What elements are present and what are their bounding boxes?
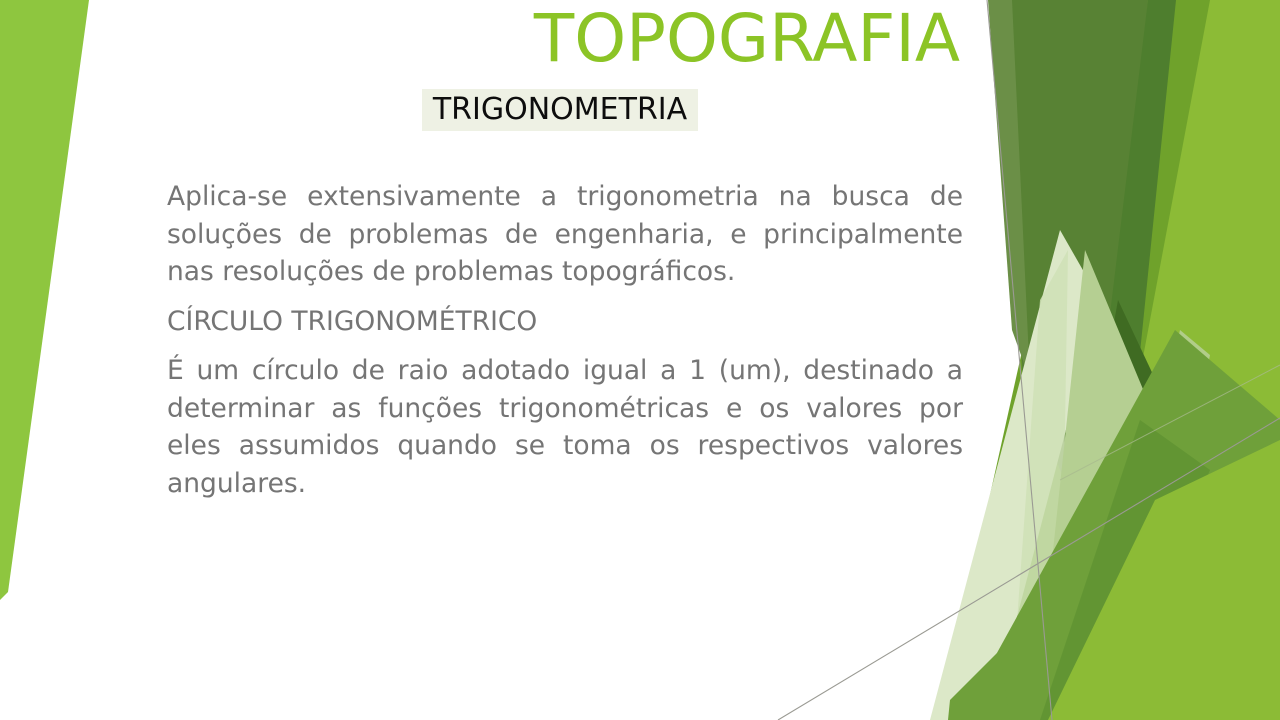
presentation-slide: TOPOGRAFIA TRIGONOMETRIA Aplica-se exten… bbox=[0, 0, 1280, 720]
body-paragraph-3: É um círculo de raio adotado igual a 1 (… bbox=[167, 352, 963, 502]
subtitle-row: TRIGONOMETRIA bbox=[160, 89, 960, 131]
subtitle-highlight-box: TRIGONOMETRIA bbox=[422, 89, 698, 131]
body-text-block: Aplica-se extensivamente a trigonometria… bbox=[167, 178, 963, 502]
page-title: TOPOGRAFIA bbox=[160, 2, 960, 76]
slide-content: TOPOGRAFIA TRIGONOMETRIA Aplica-se exten… bbox=[0, 0, 1280, 720]
body-paragraph-1: Aplica-se extensivamente a trigonometria… bbox=[167, 178, 963, 291]
body-paragraph-2: CÍRCULO TRIGONOMÉTRICO bbox=[167, 303, 963, 341]
title-block: TOPOGRAFIA bbox=[160, 2, 960, 76]
